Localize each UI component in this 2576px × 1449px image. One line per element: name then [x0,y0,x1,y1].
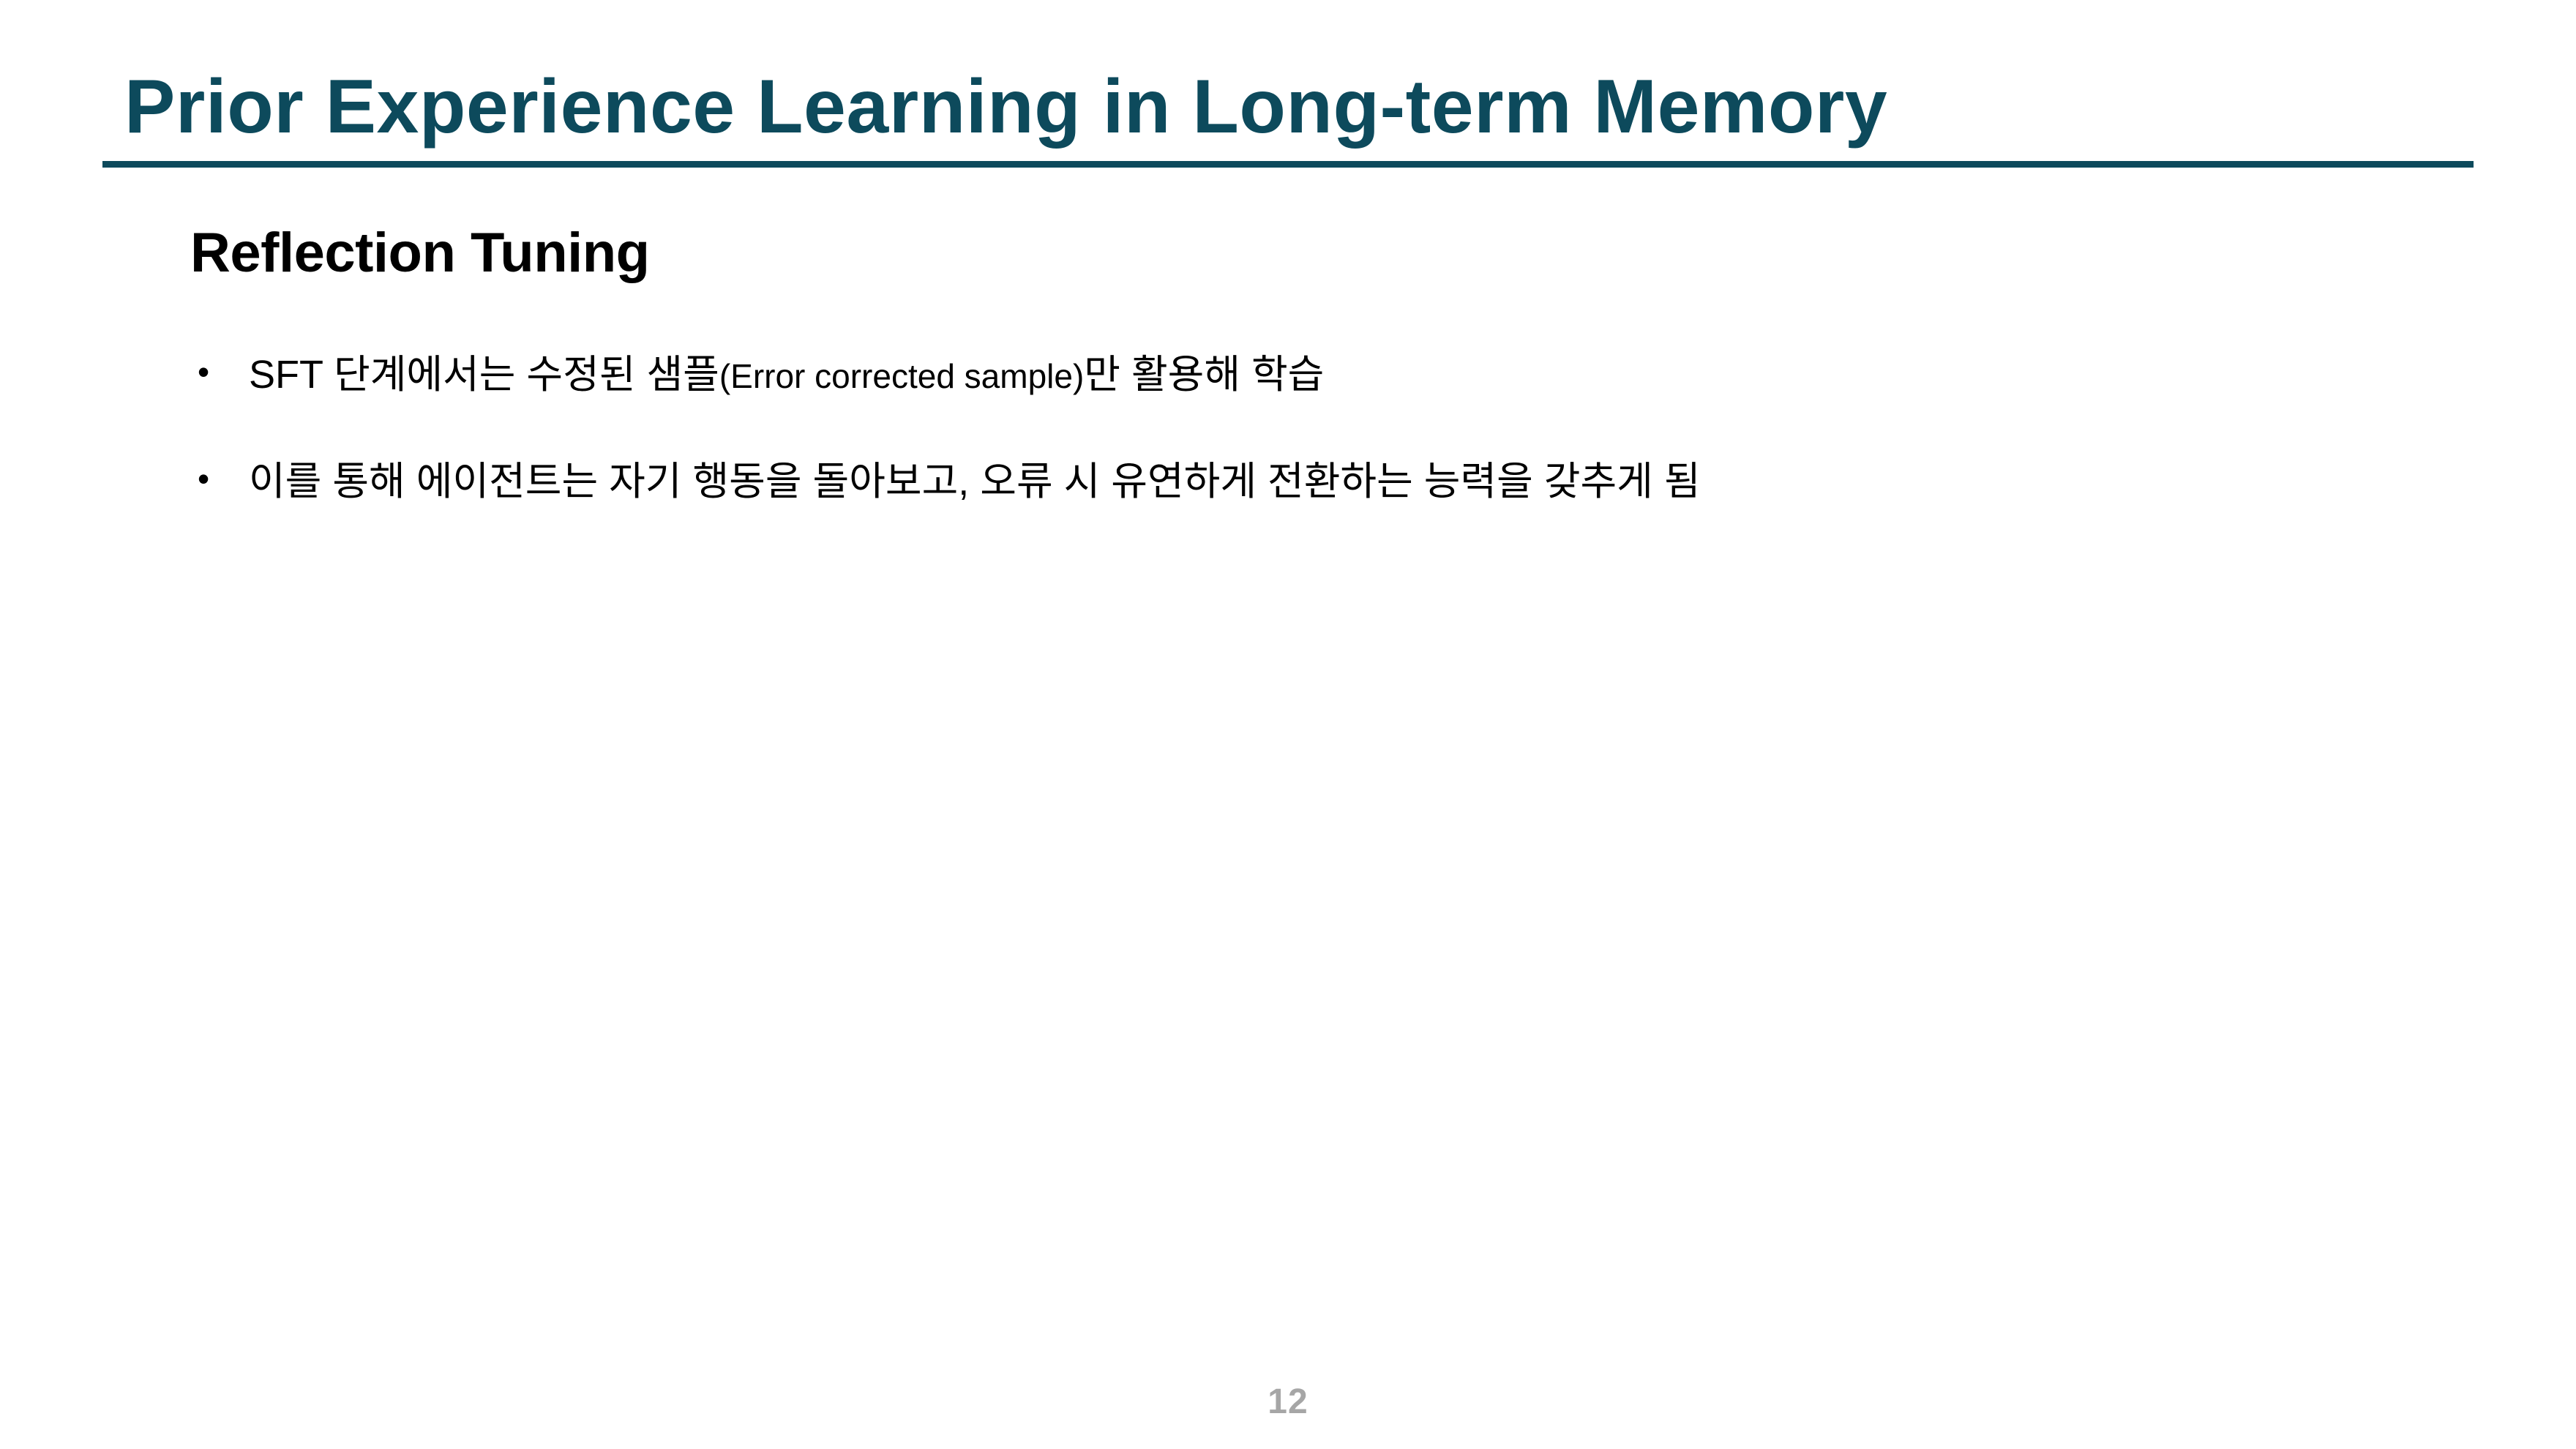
list-item-text-before: SFT 단계에서는 수정된 샘플 [249,353,719,397]
slide: Prior Experience Learning in Long-term M… [0,0,2576,1449]
slide-body: Reflection Tuning • SFT 단계에서는 수정된 샘플(Err… [0,0,2576,1449]
section-heading: Reflection Tuning [190,220,650,286]
page-number: 12 [0,1382,2576,1422]
bullet-list: • SFT 단계에서는 수정된 샘플(Error corrected sampl… [192,351,2460,565]
bullet-marker-icon: • [198,458,227,499]
bullet-marker-icon: • [198,351,227,392]
list-item: • 이를 통해 에이전트는 자기 행동을 돌아보고, 오류 시 유연하게 전환하… [192,458,2460,506]
list-item-text-after: 만 활용해 학습 [1084,353,1324,397]
list-item-text-parenthetical: (Error corrected sample) [719,357,1084,395]
list-item: • SFT 단계에서는 수정된 샘플(Error corrected sampl… [192,351,2460,400]
list-item-text-before: 이를 통해 에이전트는 자기 행동을 돌아보고, 오류 시 유연하게 전환하는 … [249,460,1701,503]
